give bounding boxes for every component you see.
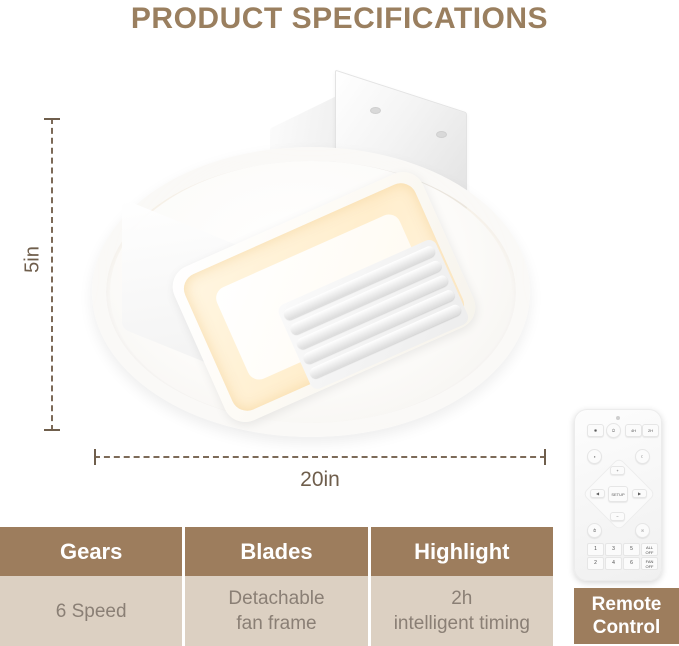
number-button-5: 5 bbox=[623, 543, 640, 556]
screw-hole-icon bbox=[436, 131, 447, 138]
dpad-right-button: ▶ bbox=[632, 489, 647, 498]
height-dimension-cap-top bbox=[44, 118, 60, 120]
width-dimension-cap-left bbox=[94, 449, 96, 465]
spec-header-highlight: Highlight bbox=[371, 527, 553, 576]
height-dimension-label: 5in bbox=[22, 237, 45, 283]
width-dimension-label: 20in bbox=[94, 468, 546, 492]
spec-table: Gears 6 Speed Blades Detachablefan frame… bbox=[0, 527, 553, 646]
number-button-6: 6 bbox=[623, 557, 640, 570]
width-dimension-cap-right bbox=[544, 449, 546, 465]
night-mode-button: ☾ bbox=[635, 449, 650, 464]
pairing-button: ☉ bbox=[635, 523, 650, 538]
spec-column-gears: Gears 6 Speed bbox=[0, 527, 185, 646]
product-illustration bbox=[70, 85, 550, 445]
spec-column-blades: Blades Detachablefan frame bbox=[185, 527, 370, 646]
number-button-2: 2 bbox=[587, 557, 604, 570]
number-button-1: 1 bbox=[587, 543, 604, 556]
number-button-3: 3 bbox=[605, 543, 622, 556]
height-dimension-cap-bottom bbox=[44, 429, 60, 431]
fan-speed-button: ✺ bbox=[587, 424, 604, 437]
dpad-down-button: − bbox=[610, 512, 625, 521]
page-title: PRODUCT SPECIFICATIONS bbox=[0, 0, 679, 38]
spec-header-blades: Blades bbox=[185, 527, 367, 576]
remote-control-label: RemoteControl bbox=[574, 588, 679, 644]
remote-control-image: ✺ ⏻ 4H 2H ◑ ☾ + − ◀ ▶ SETUP ⏱ ☉ 1 3 5 AL… bbox=[574, 409, 662, 581]
spec-value-highlight: 2hintelligent timing bbox=[371, 576, 553, 646]
all-off-button: ALLOFF bbox=[641, 543, 658, 556]
width-dimension-line bbox=[94, 456, 546, 458]
dpad-left-button: ◀ bbox=[590, 489, 605, 498]
fan-off-button: FANOFF bbox=[641, 557, 658, 570]
setup-button: SETUP bbox=[608, 486, 628, 502]
spec-value-gears: 6 Speed bbox=[0, 576, 182, 646]
spec-value-blades: Detachablefan frame bbox=[185, 576, 367, 646]
timer-button: ⏱ bbox=[587, 523, 602, 538]
height-dimension-line bbox=[51, 118, 53, 431]
power-button: ⏻ bbox=[606, 423, 621, 438]
spec-column-highlight: Highlight 2hintelligent timing bbox=[371, 527, 553, 646]
timer-2h-button: 2H bbox=[642, 424, 659, 437]
ir-led-icon bbox=[616, 416, 620, 420]
brightness-button: ◑ bbox=[587, 449, 602, 464]
spec-header-gears: Gears bbox=[0, 527, 182, 576]
screw-hole-icon bbox=[370, 107, 381, 114]
timer-4h-button: 4H bbox=[625, 424, 642, 437]
number-button-4: 4 bbox=[605, 557, 622, 570]
dpad-up-button: + bbox=[610, 466, 625, 475]
